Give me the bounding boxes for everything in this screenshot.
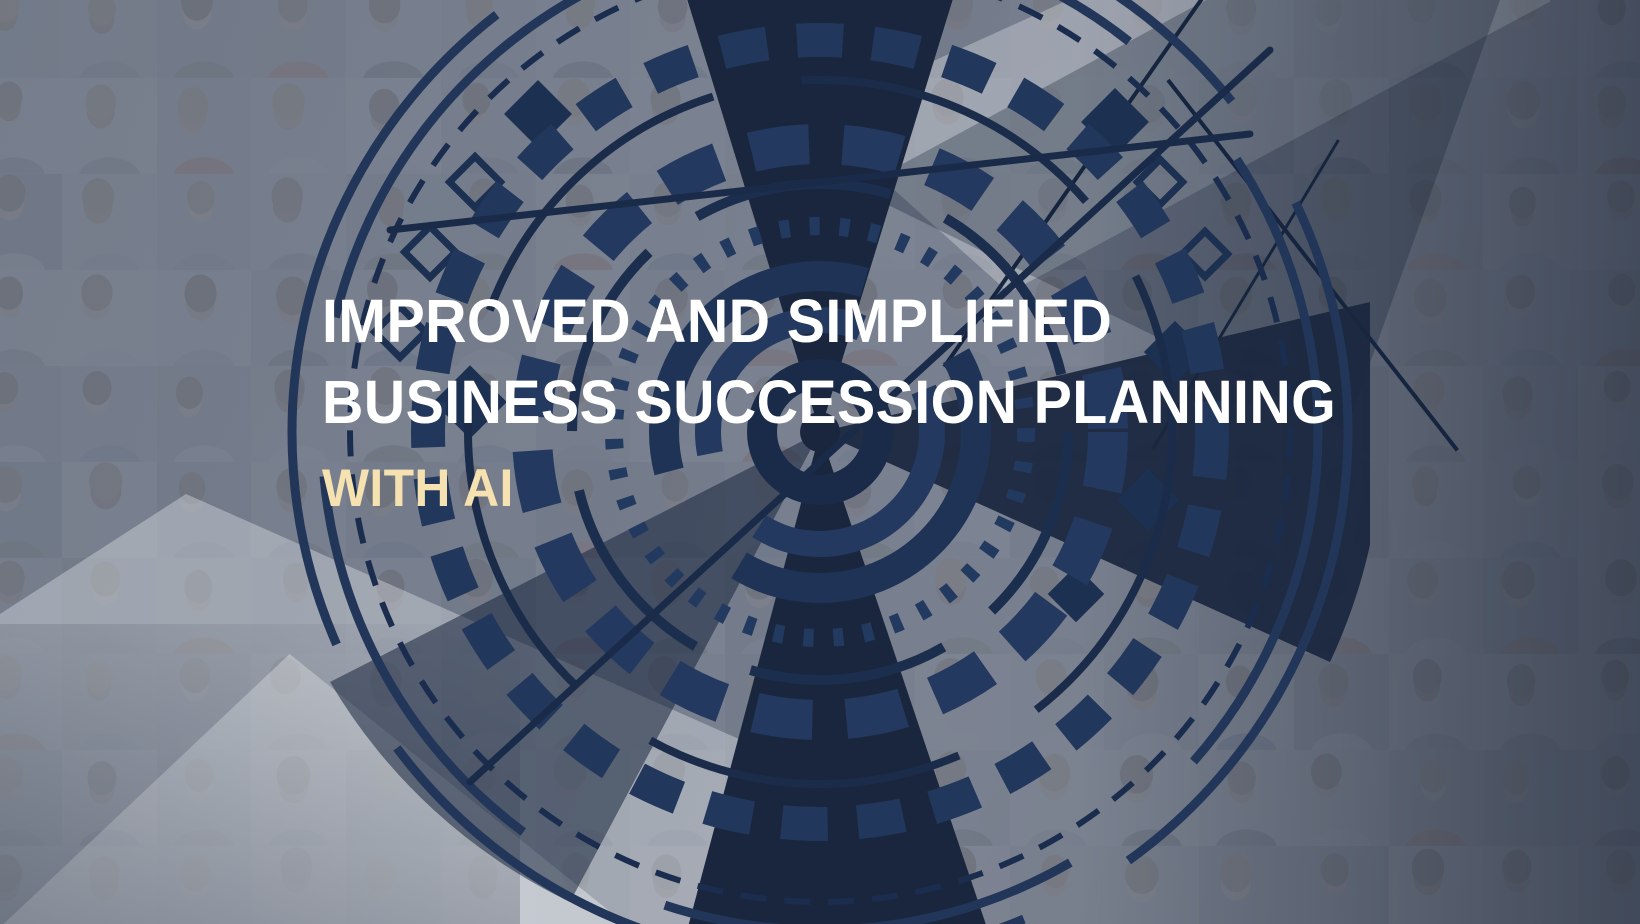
- hero-banner: Improved and Simplified Business Success…: [0, 0, 1640, 924]
- headline-block: Improved and Simplified Business Success…: [322, 281, 1402, 520]
- headline-line-2: Business Succession Planning: [322, 362, 1337, 442]
- subheadline: With AI: [322, 458, 1337, 520]
- headline-line-1: Improved and Simplified: [322, 281, 1337, 361]
